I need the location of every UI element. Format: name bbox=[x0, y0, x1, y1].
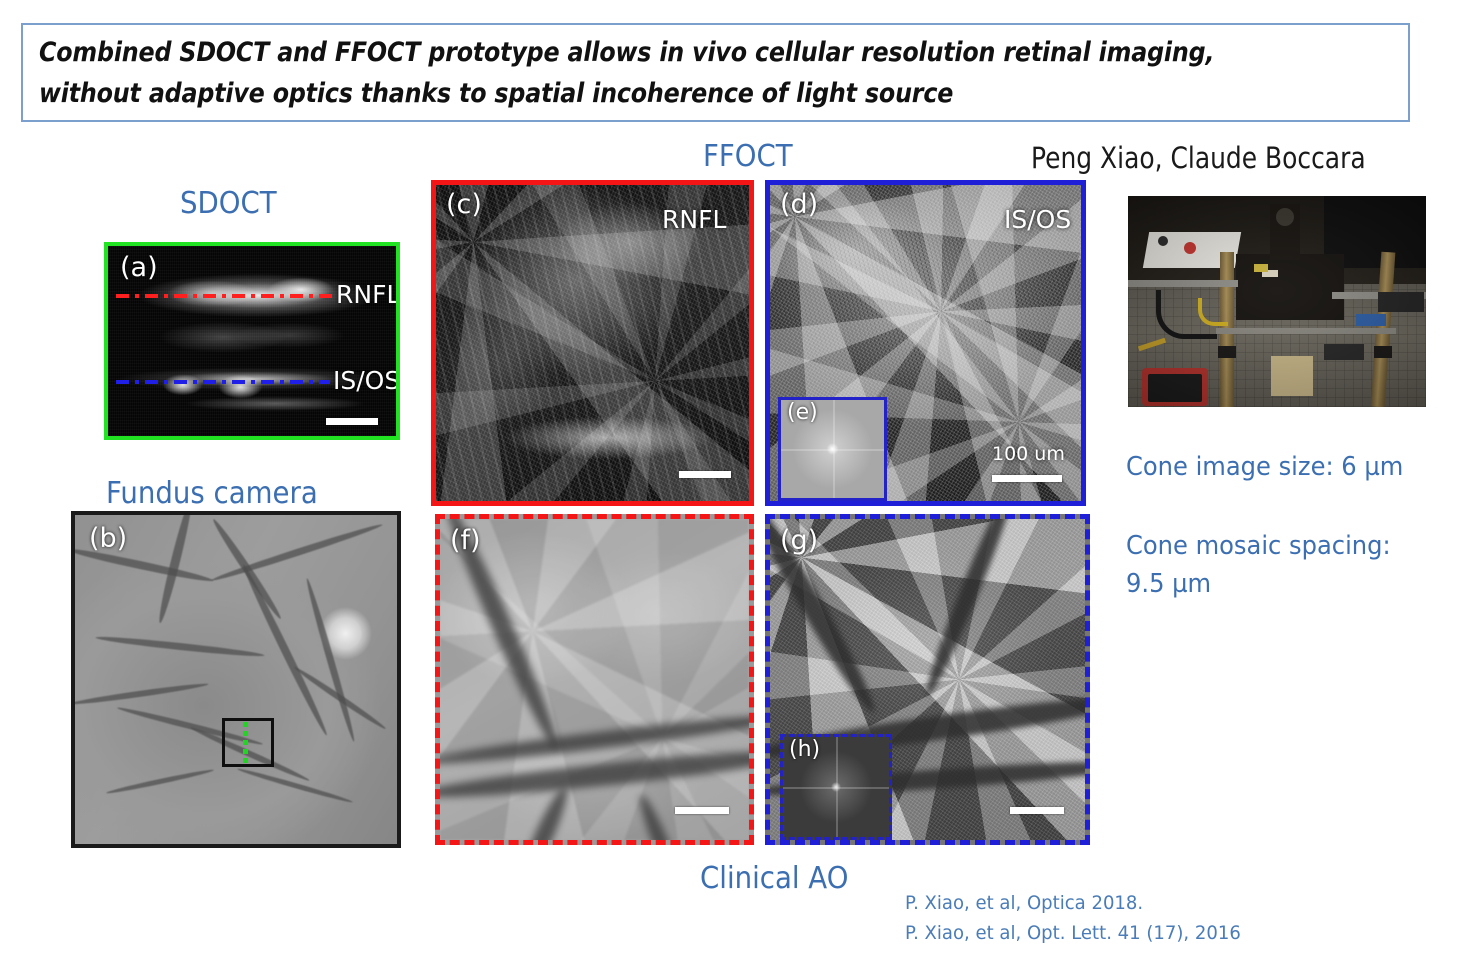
panel-d-scalebar bbox=[992, 475, 1062, 482]
panel-e-fft-inset: (e) bbox=[778, 397, 887, 501]
heading-sdoct: SDOCT bbox=[180, 186, 277, 221]
panel-d-scalebar-label: 100 um bbox=[992, 443, 1065, 465]
title-line-2: without adaptive optics thanks to spatia… bbox=[39, 78, 953, 109]
panel-d-label-isos: IS/OS bbox=[1004, 205, 1071, 234]
fft-cross-vertical bbox=[833, 400, 835, 498]
authors-line: Peng Xiao, Claude Boccara bbox=[1031, 141, 1366, 175]
panel-h-fft-inset: (h) bbox=[780, 734, 892, 840]
fft-cross-vertical bbox=[836, 737, 838, 837]
panel-a-label-rnfl: RNFL bbox=[336, 280, 400, 309]
panel-g-scalebar bbox=[1010, 807, 1064, 814]
panel-f-scalebar bbox=[675, 807, 729, 814]
panel-g-clinical-ao-cones: (g) (h) bbox=[765, 514, 1090, 845]
metric-cone-mosaic-spacing-value: 9.5 µm bbox=[1126, 569, 1211, 599]
heading-clinical-ao: Clinical AO bbox=[700, 861, 848, 896]
panel-c-scalebar bbox=[679, 471, 731, 478]
heading-ffoct: FFOCT bbox=[703, 139, 793, 174]
citation-opt-lett-2016: P. Xiao, et al, Opt. Lett. 41 (17), 2016 bbox=[905, 922, 1241, 944]
rnfl-marker-line bbox=[116, 294, 334, 298]
panel-f-clinical-ao-blurred: (f) bbox=[435, 514, 754, 845]
panel-c-label-rnfl: RNFL bbox=[662, 205, 726, 234]
panel-a-sdoct-bscan: (a) RNFL IS/OS bbox=[104, 242, 400, 440]
oct-noise-overlay bbox=[108, 246, 396, 436]
metric-cone-image-size: Cone image size: 6 µm bbox=[1126, 452, 1403, 482]
title-line-1: Combined SDOCT and FFOCT prototype allow… bbox=[39, 37, 1214, 68]
metric-cone-mosaic-spacing-label: Cone mosaic spacing: bbox=[1126, 531, 1391, 561]
fundus-bscan-location-line bbox=[243, 722, 248, 763]
panel-h-tag: (h) bbox=[789, 737, 820, 762]
photo-vignette bbox=[1128, 196, 1426, 407]
panel-b-fundus: (b) bbox=[71, 511, 401, 848]
fundus-roi-box bbox=[222, 718, 274, 767]
panel-e-tag: (e) bbox=[787, 400, 818, 425]
title-banner: Combined SDOCT and FFOCT prototype allow… bbox=[21, 23, 1410, 122]
setup-photograph bbox=[1128, 196, 1426, 407]
panel-d-ffoct-isos: (d) IS/OS 100 um (e) bbox=[765, 180, 1086, 506]
panel-c-ffoct-rnfl: (c) RNFL bbox=[431, 180, 754, 506]
heading-fundus-camera: Fundus camera bbox=[106, 476, 318, 511]
panel-a-scalebar bbox=[326, 418, 378, 425]
panel-a-label-isos: IS/OS bbox=[333, 366, 400, 395]
citation-optica-2018: P. Xiao, et al, Optica 2018. bbox=[905, 892, 1143, 914]
isos-marker-line bbox=[116, 380, 330, 384]
